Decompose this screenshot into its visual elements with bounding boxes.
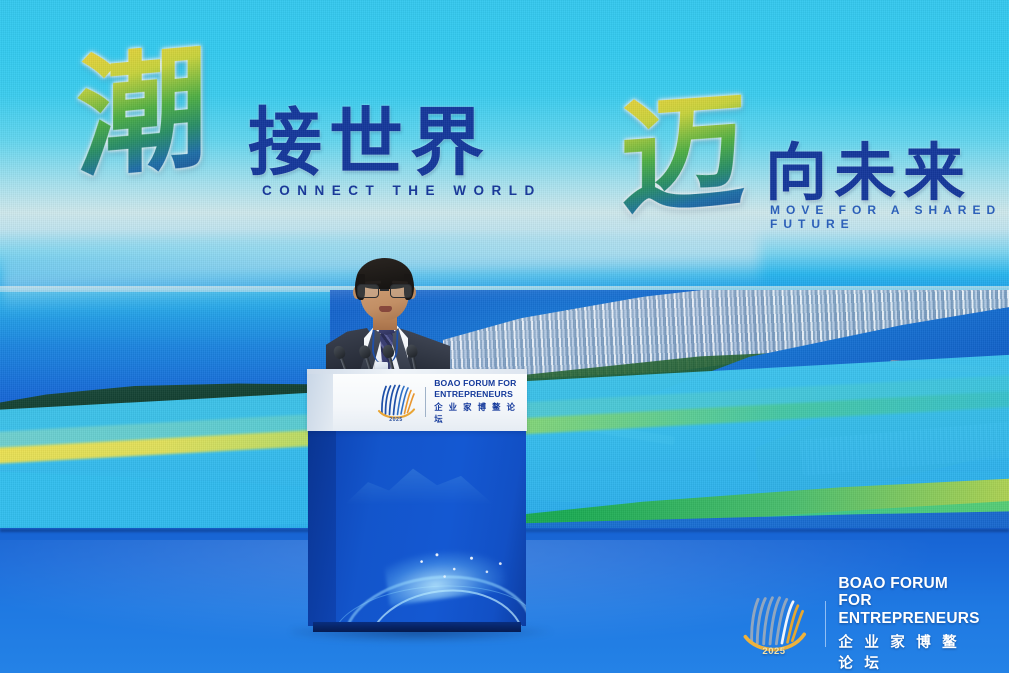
podium-mountain-graphic [344,453,494,505]
corner-logo: 2025 BOAO FORUM FOR ENTREPRENEURS 企 业 家 … [735,588,975,660]
headline-right-english: MOVE FOR A SHARED FUTURE [770,203,1009,231]
podium-wave-graphic [326,524,526,626]
eyeglass-lens-left [357,284,379,298]
wave-spray-droplets [412,548,508,582]
corner-logo-line1: BOAO FORUM FOR [838,575,979,609]
podium-logo-divider [425,387,426,417]
podium-logo-year: 2025 [375,417,417,423]
podium-shadow [291,627,553,643]
corner-logo-divider [825,601,826,647]
headline-right-chinese: 向未来 [765,142,972,204]
eyeglass-lens-right [390,284,412,298]
boao-fan-shell-icon: 2025 [735,593,813,655]
corner-logo-line2: ENTREPRENEURS [838,610,979,627]
podium: 2025 BOAO FORUM FOR ENTREPRENEURS 企 业 家 … [307,369,527,632]
eyeglasses-icon [356,284,413,299]
microphone-head [381,344,395,359]
podium-nameboard: 2025 BOAO FORUM FOR ENTREPRENEURS 企 业 家 … [307,369,527,431]
corner-logo-year: 2025 [735,646,813,657]
podium-nameboard-side [307,369,333,431]
headline-left-english: CONNECT THE WORLD [262,183,542,198]
podium-logo-line2: ENTREPRENEURS [434,390,525,400]
brush-character-left: 潮 [76,42,207,186]
corner-logo-chinese: 企 业 家 博 鳌 论 坛 [838,631,979,673]
podium-logo-text: BOAO FORUM FOR ENTREPRENEURS 企 业 家 博 鳌 论… [434,379,525,425]
podium-nameboard-lip [307,369,527,374]
corner-logo-text: BOAO FORUM FOR ENTREPRENEURS 企 业 家 博 鳌 论… [838,575,979,673]
eyeglass-bridge [380,289,389,291]
brush-character-right: 迈 [620,87,746,222]
podium-logo-line1: BOAO FORUM FOR [434,379,525,389]
microphone-head [405,344,418,359]
microphone-head [358,344,372,360]
headline-left-chinese: 接世界 [248,106,491,180]
podium-front-panel [308,431,526,626]
boao-fan-shell-icon: 2025 [375,382,417,422]
conference-stage-photo: 潮 接世界 CONNECT THE WORLD 迈 向未来 MOVE FOR A… [0,0,1009,673]
podium-logo-chinese: 企 业 家 博 鳌 论 坛 [434,401,525,425]
mouth [379,306,392,312]
podium-logo: 2025 BOAO FORUM FOR ENTREPRENEURS 企 业 家 … [375,379,525,425]
